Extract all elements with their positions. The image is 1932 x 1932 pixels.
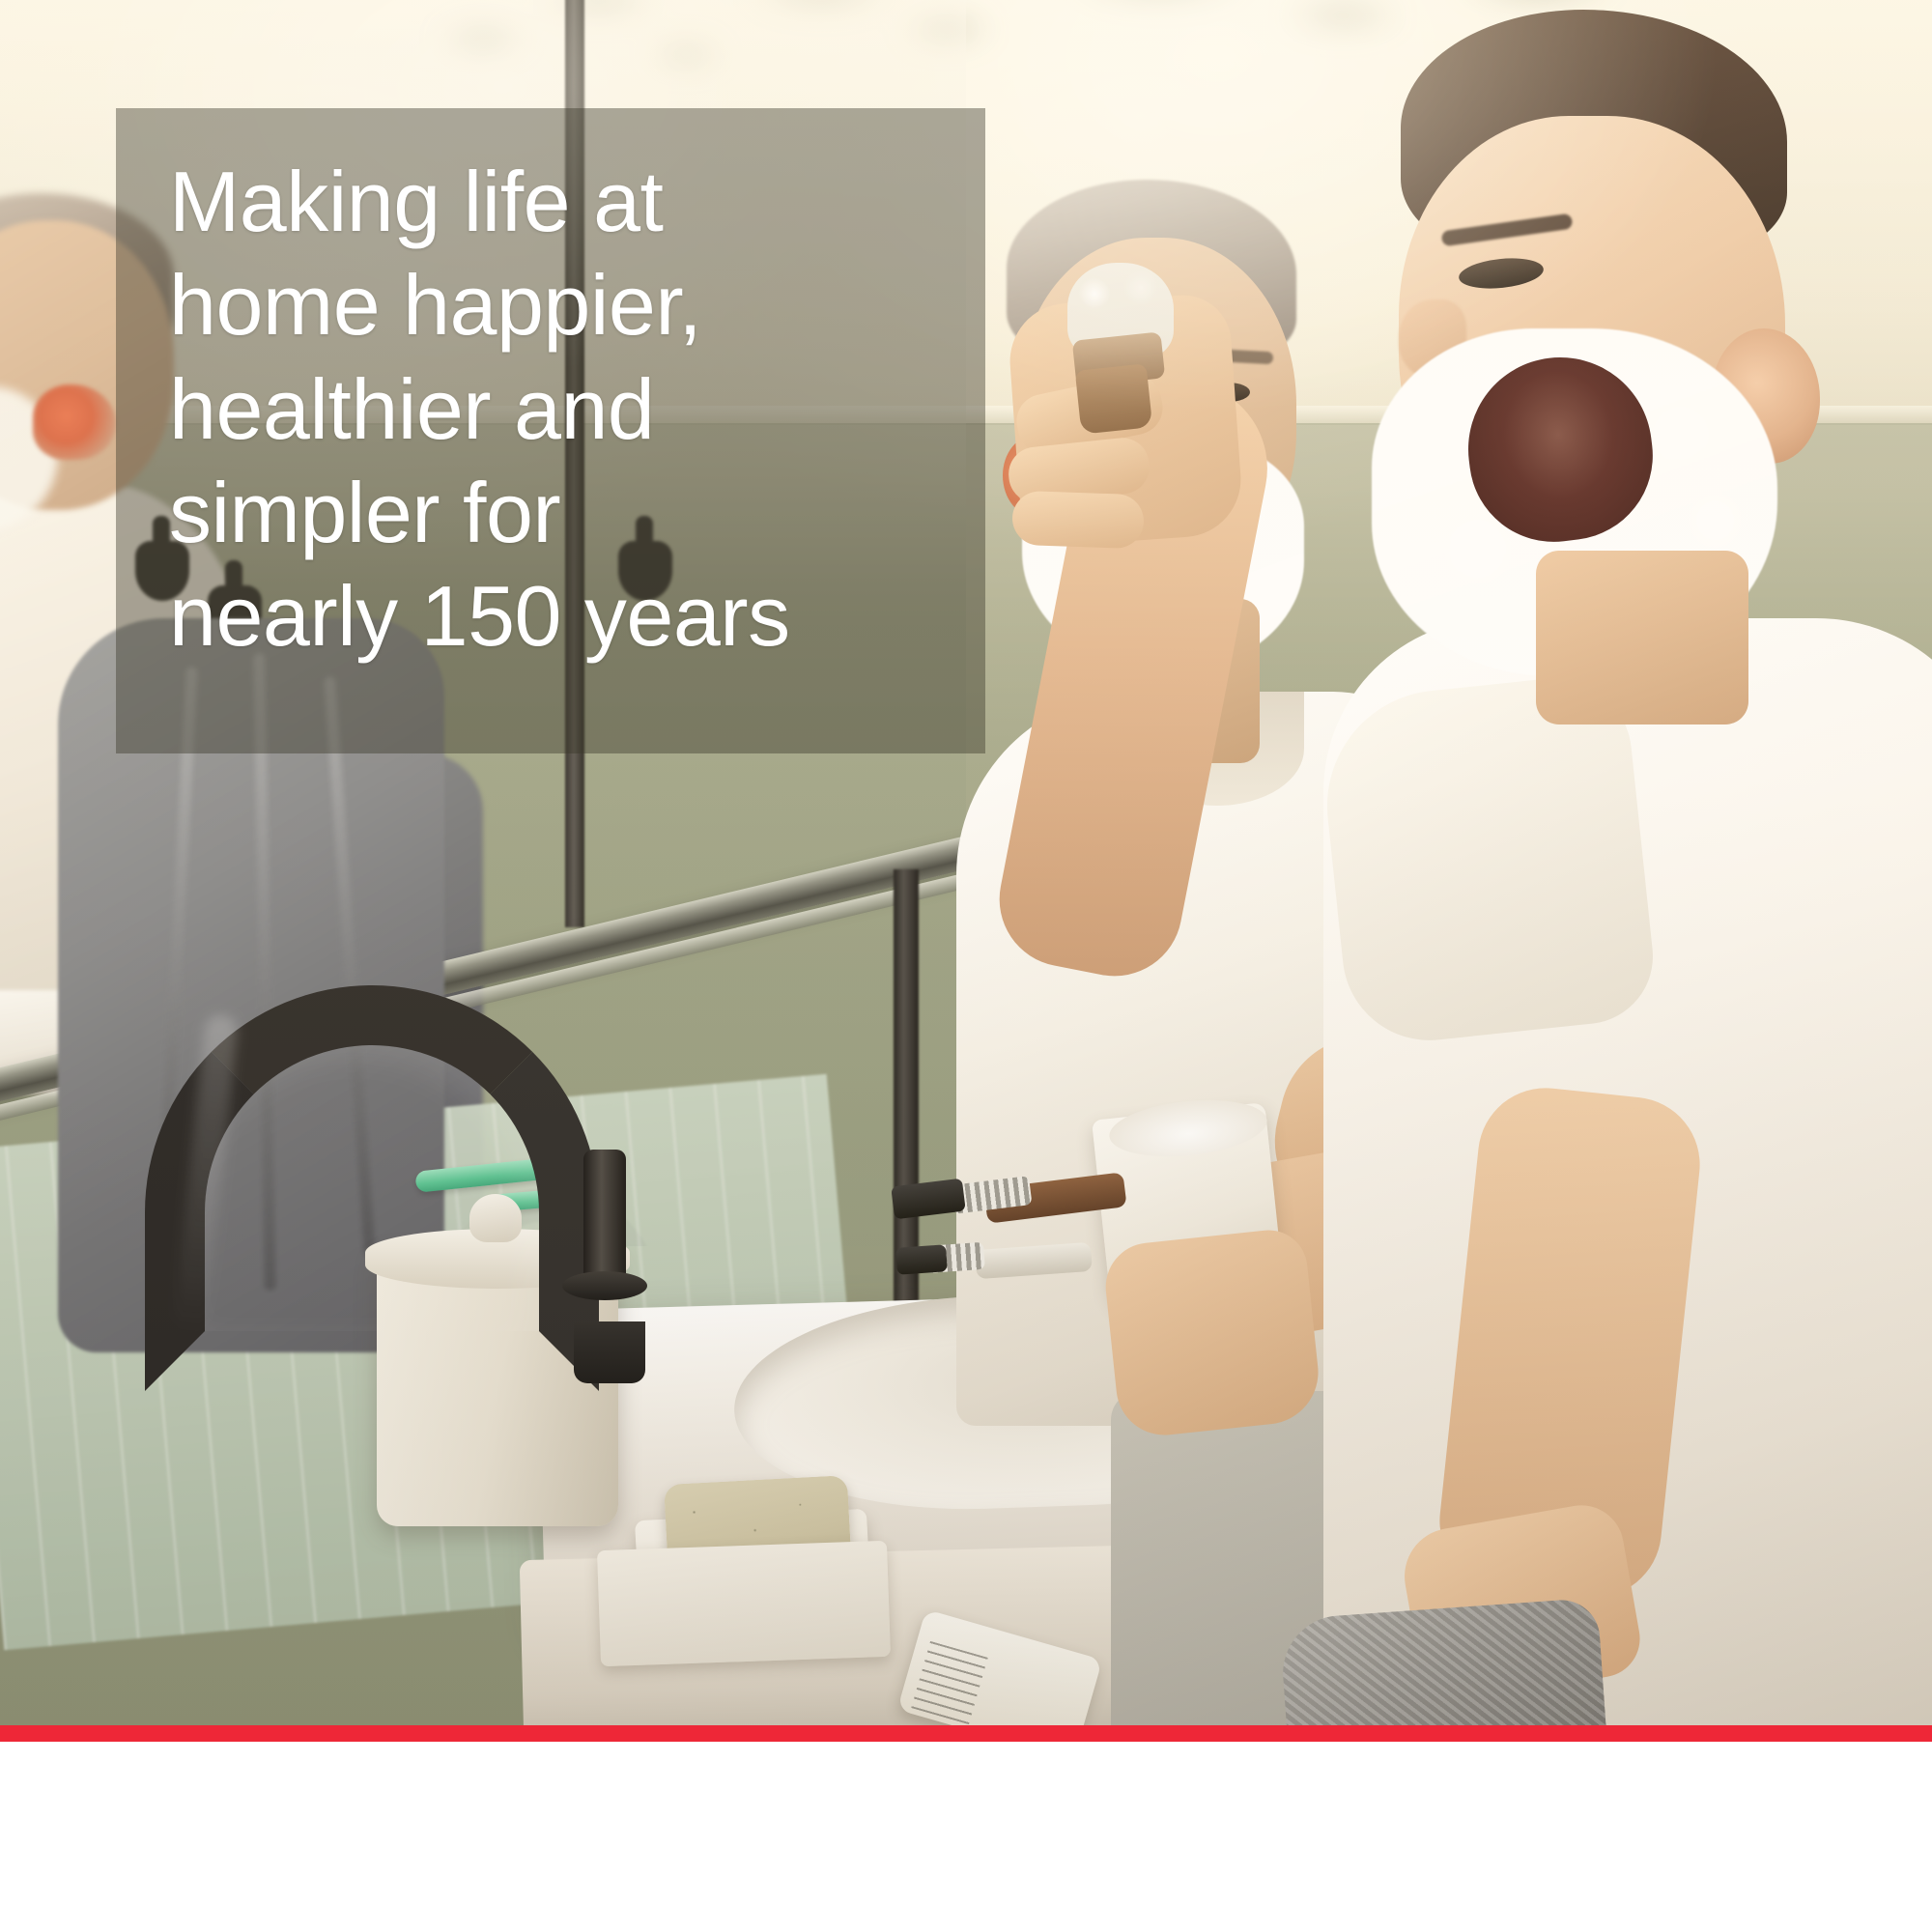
- faucet-spout-tip: [574, 1321, 645, 1383]
- father-hand: [1101, 1227, 1323, 1440]
- brand-footer-bar: American Standard: [0, 1742, 1932, 1932]
- headline-text: Making life at home happier, healthier a…: [169, 150, 942, 668]
- foreground-faucet-handle: [583, 1150, 626, 1285]
- reflected-ear: [33, 384, 116, 460]
- son-figure: [1391, 10, 1932, 1725]
- vanity-tray: [597, 1541, 891, 1666]
- ad-canvas: Making life at home happier, healthier a…: [0, 0, 1932, 1932]
- brand-red-rule: [0, 1725, 1932, 1742]
- son-neck: [1536, 551, 1748, 724]
- son-sleeve: [1316, 670, 1660, 1048]
- hero-photograph: Making life at home happier, healthier a…: [0, 0, 1932, 1725]
- grey-washcloth: [1279, 1598, 1609, 1725]
- safety-razor-head: [895, 1244, 948, 1275]
- shaving-brush-handle: [1075, 363, 1152, 434]
- son-finger: [1011, 491, 1145, 550]
